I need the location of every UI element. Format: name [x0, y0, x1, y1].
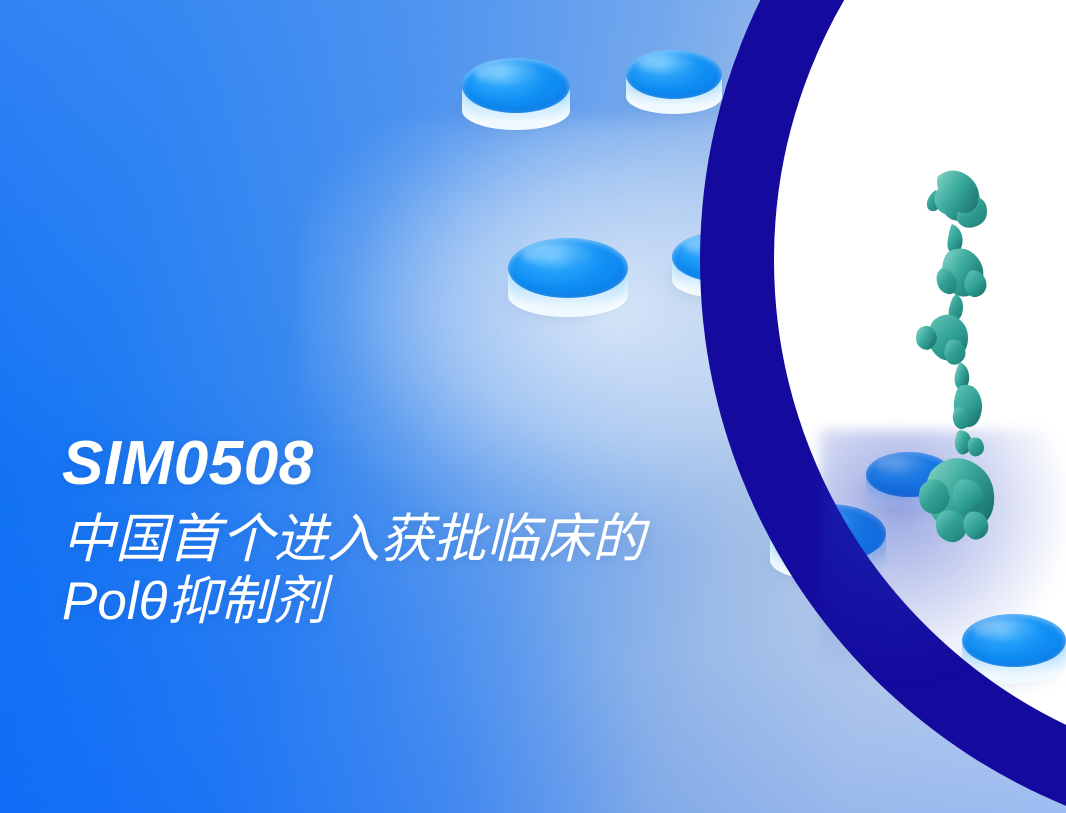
- tablet-body: [462, 58, 570, 136]
- tablet-body: [626, 50, 722, 120]
- subtitle-line-2: Polθ抑制剂: [62, 571, 645, 632]
- tablet-disc: [462, 58, 570, 136]
- tablet-gloss: [638, 54, 694, 74]
- tablet-body: [508, 238, 628, 324]
- tablet-disc: [508, 238, 628, 324]
- promo-banner: SIM0508 中国首个进入获批临床的 Polθ抑制剂: [0, 0, 1066, 813]
- brand-name: SIM0508: [62, 432, 645, 495]
- subtitle-line-1: 中国首个进入获批临床的: [62, 509, 645, 570]
- polymerase-theta-protein-structure: [898, 160, 1028, 560]
- tablet-gloss: [475, 63, 538, 85]
- headline-block: SIM0508 中国首个进入获批临床的 Polθ抑制剂: [62, 432, 645, 632]
- tablet-disc: [626, 50, 722, 120]
